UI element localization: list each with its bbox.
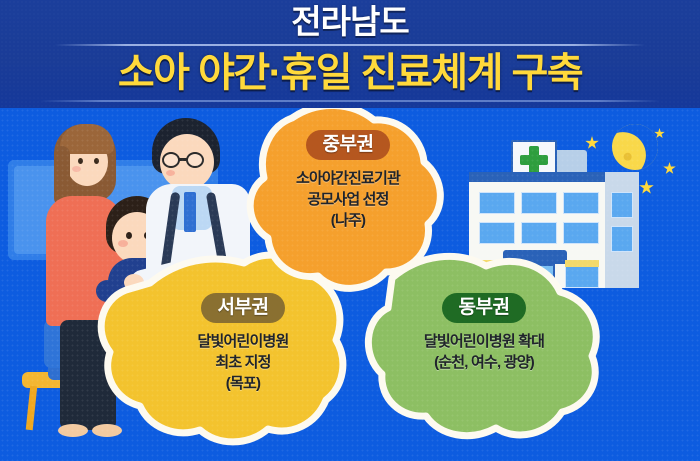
region-card-central[interactable]: 중부권 소아야간진료기관 공모사업 선정 (나주) bbox=[248, 130, 448, 231]
region-line: (목포) bbox=[148, 373, 338, 394]
region-line: (순천, 여수, 광양) bbox=[378, 352, 590, 373]
region-line: 최초 지정 bbox=[148, 352, 338, 373]
region-card-east[interactable]: 동부권 달빛어린이병원 확대 (순천, 여수, 광양) bbox=[378, 293, 590, 373]
region-badge-central: 중부권 bbox=[306, 130, 391, 160]
region-line: (나주) bbox=[248, 210, 448, 231]
infographic-root: 전라남도 소아 야간·휴일 진료체계 구축 bbox=[0, 0, 700, 461]
region-card-west[interactable]: 서부권 달빛어린이병원 최초 지정 (목포) bbox=[148, 293, 338, 394]
header-title-province: 전라남도 bbox=[0, 2, 700, 42]
region-line: 달빛어린이병원 확대 bbox=[378, 331, 590, 352]
region-line: 소아야간진료기관 bbox=[248, 168, 448, 189]
scene-area: 중부권 소아야간진료기관 공모사업 선정 (나주) 서부권 달빛어린이병원 최초… bbox=[0, 108, 700, 461]
region-badge-west: 서부권 bbox=[201, 293, 286, 323]
header-divider-top bbox=[55, 44, 645, 46]
region-badge-east: 동부권 bbox=[442, 293, 527, 323]
region-line: 달빛어린이병원 bbox=[148, 331, 338, 352]
header-banner: 전라남도 소아 야간·휴일 진료체계 구축 bbox=[0, 0, 700, 108]
region-line: 공모사업 선정 bbox=[248, 189, 448, 210]
header-title-main: 소아 야간·휴일 진료체계 구축 bbox=[0, 49, 700, 97]
header-divider-bottom bbox=[40, 100, 660, 102]
